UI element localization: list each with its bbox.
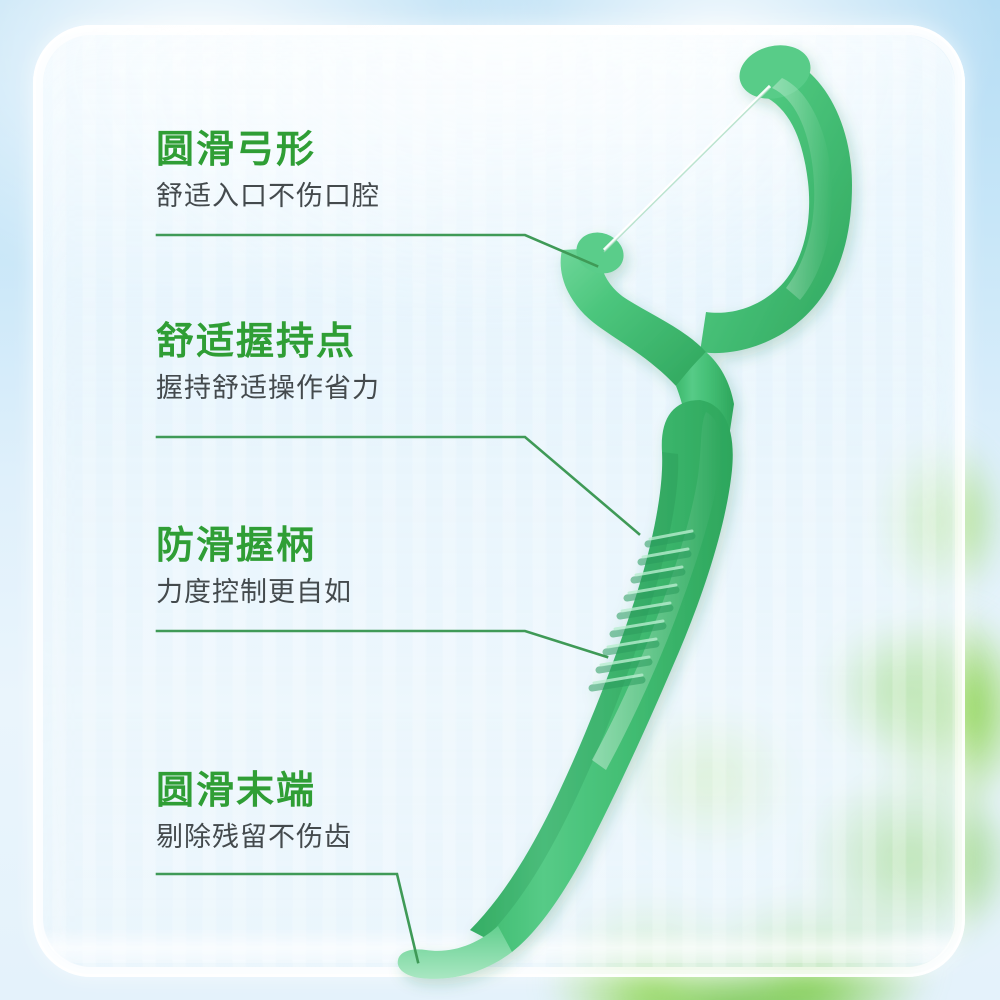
feature-subtitle-smooth-arc: 舒适入口不伤口腔: [156, 183, 380, 210]
bow-left-prong: [561, 248, 706, 386]
feature-title-smooth-tip: 圆滑末端: [156, 772, 352, 810]
ribbed-handle-body: [470, 400, 733, 952]
feature-subtitle-anti-slip-handle: 力度控制更自如: [156, 579, 352, 606]
feature-title-anti-slip-handle: 防滑握柄: [156, 527, 352, 565]
floss-thread-shadow: [604, 88, 770, 252]
feature-subtitle-comfort-grip-point: 握持舒适操作省力: [156, 375, 380, 402]
feature-title-comfort-grip-point: 舒适握持点: [156, 323, 380, 361]
feature-subtitle-smooth-tip: 剔除残留不伤齿: [156, 824, 352, 851]
feature-block-comfort-grip-point: 舒适握持点 握持舒适操作省力: [152, 323, 380, 402]
feature-block-smooth-tip: 圆滑末端 剔除残留不伤齿: [152, 772, 352, 851]
feature-block-anti-slip-handle: 防滑握柄 力度控制更自如: [152, 527, 352, 606]
feature-block-smooth-arc: 圆滑弓形 舒适入口不伤口腔: [152, 131, 380, 210]
floss-pick-illustration: [0, 0, 1000, 1000]
feature-title-smooth-arc: 圆滑弓形: [156, 131, 380, 169]
floss-thread: [604, 86, 770, 250]
infographic-canvas: 圆滑弓形 舒适入口不伤口腔 舒适握持点 握持舒适操作省力 防滑握柄 力度控制更自…: [0, 0, 1000, 1000]
tapered-pick-tip: [398, 926, 512, 979]
